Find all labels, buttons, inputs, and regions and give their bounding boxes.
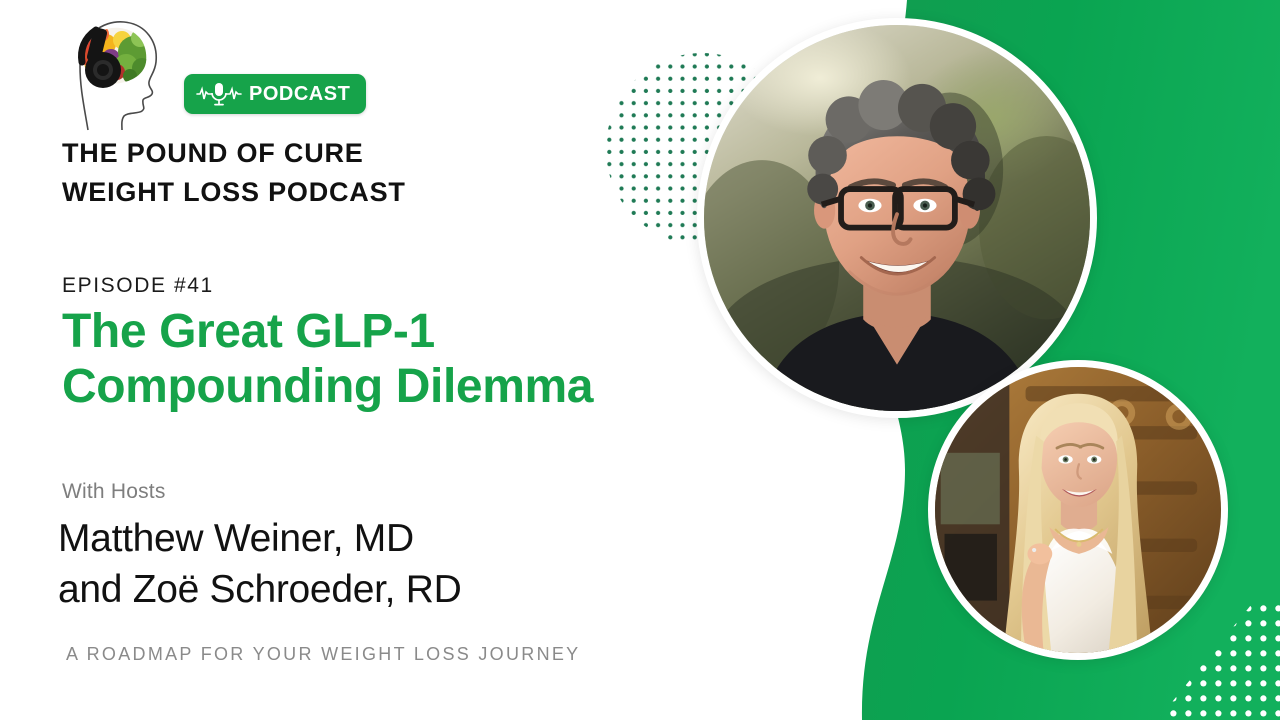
- microphone-waveform-icon: [196, 81, 242, 107]
- episode-title-line-1: The Great GLP-1: [62, 305, 762, 360]
- podcast-cover-art: PODCAST THE POUND OF CURE WEIGHT LOSS PO…: [0, 0, 1280, 720]
- host-photo-zoe-schroeder: [928, 360, 1228, 660]
- hosts-intro-label: With Hosts: [62, 480, 166, 504]
- brand-header: PODCAST: [62, 14, 366, 132]
- tagline: A ROADMAP FOR YOUR WEIGHT LOSS JOURNEY: [66, 644, 580, 665]
- show-title-line-1: THE POUND OF CURE: [62, 138, 364, 168]
- head-with-headphones-and-food-brain-icon: [62, 14, 170, 132]
- hosts-names: Matthew Weiner, MD and Zoë Schroeder, RD: [58, 513, 461, 616]
- episode-title-line-2: Compounding Dilemma: [62, 360, 762, 415]
- podcast-badge-label: PODCAST: [249, 84, 350, 104]
- host-name-line-2: and Zoë Schroeder, RD: [58, 564, 461, 615]
- episode-title: The Great GLP-1 Compounding Dilemma: [62, 305, 762, 414]
- text-content-column: PODCAST THE POUND OF CURE WEIGHT LOSS PO…: [0, 0, 700, 720]
- episode-number-label: EPISODE #41: [62, 274, 214, 298]
- show-title-line-2: WEIGHT LOSS PODCAST: [62, 173, 406, 212]
- host-name-line-1: Matthew Weiner, MD: [58, 513, 461, 564]
- show-title: THE POUND OF CURE WEIGHT LOSS PODCAST: [62, 134, 406, 212]
- podcast-badge: PODCAST: [184, 74, 366, 114]
